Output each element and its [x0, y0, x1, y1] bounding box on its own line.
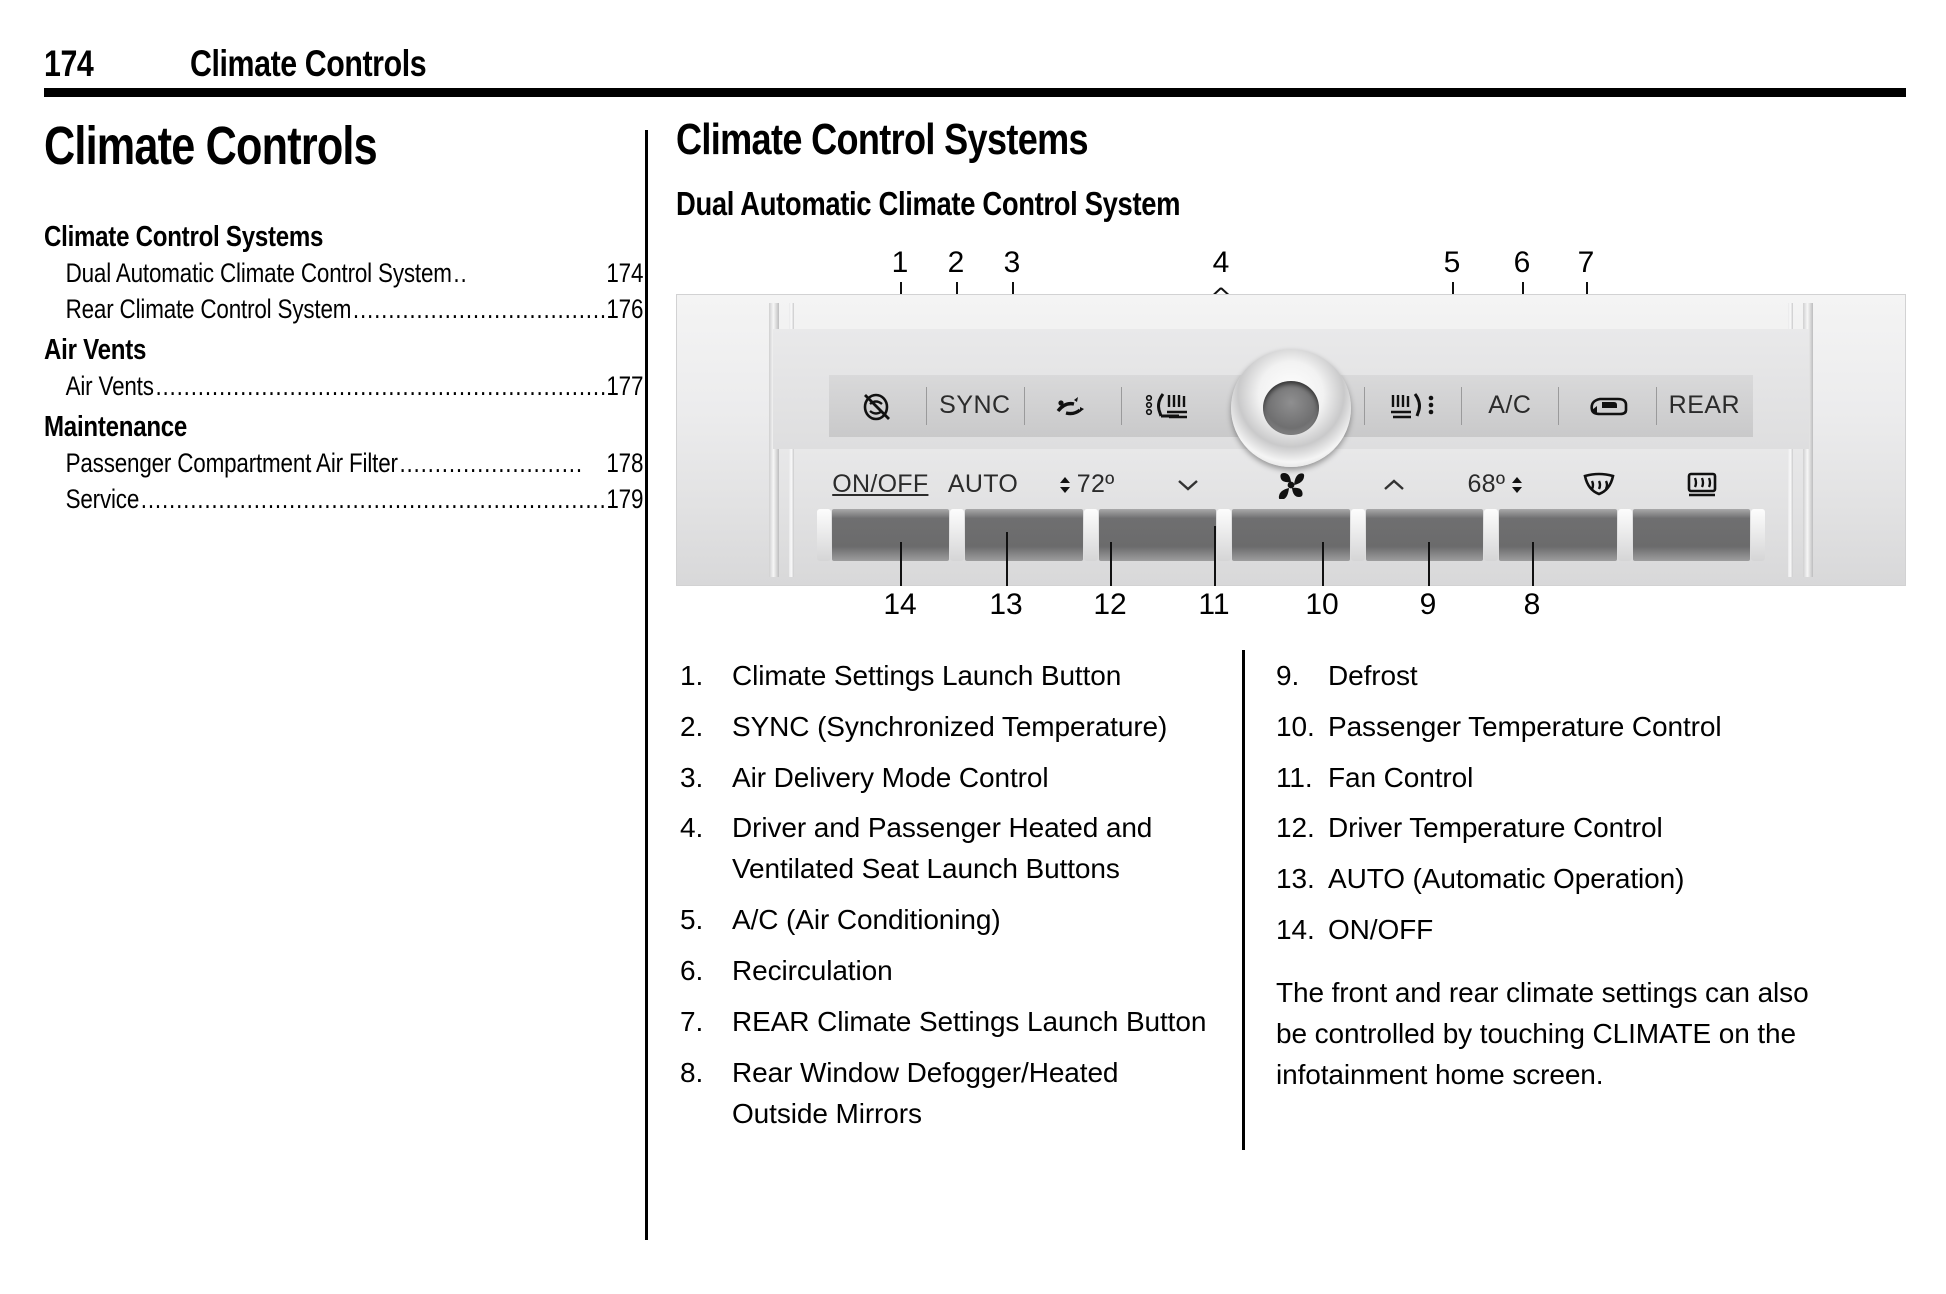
- chevron-up-icon: [1381, 477, 1407, 493]
- rear-climate-launch-button[interactable]: REAR: [1656, 375, 1753, 437]
- list-item: 9. Defrost: [1276, 656, 1846, 697]
- physical-key[interactable]: [965, 509, 1082, 561]
- legend-number: 8.: [680, 1053, 732, 1135]
- callout-3: 3: [1004, 248, 1021, 278]
- callout-5: 5: [1444, 248, 1461, 278]
- defrost-label: [1548, 470, 1651, 500]
- toc-group-heading: Air Vents: [44, 332, 542, 369]
- button-separator: [1351, 509, 1365, 561]
- climate-panel-figure: 1 2 3 4 5 6 7: [676, 248, 1906, 638]
- list-item: 12. Driver Temperature Control: [1276, 808, 1846, 849]
- list-item: 8. Rear Window Defogger/Heated Outside M…: [680, 1053, 1220, 1135]
- sync-label: SYNC: [939, 391, 1010, 420]
- climate-settings-icon: [861, 391, 895, 421]
- climate-label-row: ON/OFF AUTO 72º: [829, 463, 1753, 507]
- legend-divider-rule: [1242, 650, 1245, 1150]
- toc-entry[interactable]: Passenger Compartment Air Filter .......…: [44, 446, 643, 482]
- toc-group: Maintenance Passenger Compartment Air Fi…: [44, 409, 644, 518]
- toc-entry-label: Air Vents: [66, 369, 154, 405]
- list-item: 6. Recirculation: [680, 951, 1220, 992]
- rear-defogger-label: [1650, 470, 1753, 500]
- heated-ventilated-seat-icon-left: [1143, 390, 1195, 422]
- ac-label: A/C: [1488, 391, 1531, 420]
- column-divider-rule: [645, 130, 648, 1240]
- list-item: 10. Passenger Temperature Control: [1276, 707, 1846, 748]
- button-separator: [1484, 509, 1498, 561]
- toc-dot-leader: ........................................…: [353, 292, 605, 328]
- toc-group: Air Vents Air Vents ....................…: [44, 332, 644, 405]
- toc-dot-leader: ........................................…: [141, 482, 605, 518]
- rear-label: REAR: [1669, 391, 1740, 420]
- figure-callouts-bottom: 14 13 12 11 10 9 8: [676, 586, 1906, 638]
- toc-entry-page: 174: [606, 256, 643, 292]
- list-item: 2. SYNC (Synchronized Temperature): [680, 707, 1220, 748]
- leader-line-13: [1006, 532, 1008, 586]
- diamond-arrow-icon-right: [1509, 474, 1525, 496]
- heated-ventilated-seat-icon-right: [1387, 390, 1439, 422]
- toc-entry-page: 178: [606, 446, 643, 482]
- right-column: Climate Control Systems Dual Automatic C…: [676, 108, 1906, 656]
- button-separator: [1618, 509, 1632, 561]
- passenger-temperature-label: 68º: [1445, 470, 1548, 499]
- toc-group-heading: Climate Control Systems: [44, 219, 542, 256]
- legend-text: Rear Window Defogger/Heated Outside Mirr…: [732, 1053, 1220, 1135]
- button-separator: [1217, 509, 1231, 561]
- legend-text: REAR Climate Settings Launch Button: [732, 1002, 1220, 1043]
- physical-key[interactable]: [832, 509, 949, 561]
- callout-10: 10: [1305, 590, 1338, 620]
- toc-dot-leader: ..........................: [399, 446, 604, 482]
- passenger-heated-ventilated-seat-button[interactable]: [1364, 375, 1461, 437]
- button-separator: [817, 509, 831, 561]
- legend-text: Air Delivery Mode Control: [732, 758, 1220, 799]
- list-item: 14. ON/OFF: [1276, 910, 1846, 951]
- toc-entry-page: 177: [606, 369, 643, 405]
- legend-number: 6.: [680, 951, 732, 992]
- callout-14: 14: [883, 590, 916, 620]
- legend-text: Fan Control: [1328, 758, 1846, 799]
- callout-1: 1: [892, 248, 909, 278]
- legend-number: 10.: [1276, 707, 1328, 748]
- legend-number: 12.: [1276, 808, 1328, 849]
- leader-line-9: [1428, 542, 1430, 586]
- legend-text: AUTO (Automatic Operation): [1328, 859, 1846, 900]
- toc-dot-leader: ........................................…: [155, 369, 604, 405]
- climate-control-panel-image: SYNC: [676, 294, 1906, 586]
- legend-column-right: 9. Defrost 10. Passenger Temperature Con…: [1276, 656, 1846, 1096]
- physical-key[interactable]: [1099, 509, 1216, 561]
- air-delivery-mode-button[interactable]: [1024, 375, 1121, 437]
- legend-number: 2.: [680, 707, 732, 748]
- legend-number: 13.: [1276, 859, 1328, 900]
- list-item: 13. AUTO (Automatic Operation): [1276, 859, 1846, 900]
- legend-number: 1.: [680, 656, 732, 697]
- table-of-contents: Climate Control Systems Dual Automatic C…: [44, 219, 644, 518]
- toc-entry[interactable]: Service ................................…: [44, 482, 643, 518]
- leader-line-11: [1214, 526, 1216, 586]
- toc-entry[interactable]: Rear Climate Control System ............…: [44, 292, 643, 328]
- legend-text: Defrost: [1328, 656, 1846, 697]
- physical-key[interactable]: [1499, 509, 1616, 561]
- legend-number: 4.: [680, 808, 732, 890]
- on-off-label: ON/OFF: [829, 470, 932, 499]
- toc-entry-label: Service: [66, 482, 140, 518]
- toc-entry-page: 176: [606, 292, 643, 328]
- legend-number: 14.: [1276, 910, 1328, 951]
- legend-number: 5.: [680, 900, 732, 941]
- running-section-name: Climate Controls: [190, 45, 426, 82]
- climate-settings-launch-button[interactable]: [829, 375, 926, 437]
- chapter-title: Climate Controls: [44, 108, 524, 175]
- button-separator: [1084, 509, 1098, 561]
- legend-text: ON/OFF: [1328, 910, 1846, 951]
- legend-number: 7.: [680, 1002, 732, 1043]
- toc-entry[interactable]: Dual Automatic Climate Control System ..…: [44, 256, 643, 292]
- toc-entry[interactable]: Air Vents ..............................…: [44, 369, 643, 405]
- air-conditioning-button[interactable]: A/C: [1461, 375, 1558, 437]
- toc-dot-leader: ..: [453, 256, 604, 292]
- legend-text: Recirculation: [732, 951, 1220, 992]
- physical-button-row: [817, 509, 1765, 561]
- list-item: 5. A/C (Air Conditioning): [680, 900, 1220, 941]
- legend-text: Passenger Temperature Control: [1328, 707, 1846, 748]
- page-folio: 174: [44, 45, 93, 82]
- auto-label: AUTO: [932, 470, 1035, 499]
- physical-key[interactable]: [1366, 509, 1483, 561]
- sync-button[interactable]: SYNC: [926, 375, 1023, 437]
- callout-7: 7: [1578, 248, 1595, 278]
- defrost-icon: [1579, 470, 1619, 500]
- toc-entry-label: Passenger Compartment Air Filter: [66, 446, 398, 482]
- driver-heated-ventilated-seat-button[interactable]: [1121, 375, 1218, 437]
- fan-control-label: [1240, 471, 1343, 499]
- callout-2: 2: [948, 248, 965, 278]
- list-item: 1. Climate Settings Launch Button: [680, 656, 1220, 697]
- legend-text: Driver and Passenger Heated and Ventilat…: [732, 808, 1220, 890]
- leader-line-14: [900, 542, 902, 586]
- legend-number: 11.: [1276, 758, 1328, 799]
- running-head: 174 Climate Controls: [44, 36, 1904, 82]
- section-heading: Climate Control Systems: [676, 108, 1685, 164]
- leader-line-10: [1322, 542, 1324, 586]
- legend-text: Driver Temperature Control: [1328, 808, 1846, 849]
- callout-8: 8: [1524, 590, 1541, 620]
- recirculation-icon: [1584, 392, 1630, 420]
- toc-entry-page: 179: [606, 482, 643, 518]
- legend-text: SYNC (Synchronized Temperature): [732, 707, 1220, 748]
- legend-text: Climate Settings Launch Button: [732, 656, 1220, 697]
- infotainment-note: The front and rear climate settings can …: [1276, 973, 1846, 1096]
- physical-key[interactable]: [1232, 509, 1349, 561]
- callout-6: 6: [1514, 248, 1531, 278]
- legend-text: A/C (Air Conditioning): [732, 900, 1220, 941]
- driver-temp-value: 72º: [1077, 470, 1115, 499]
- diamond-arrow-icon-left: [1057, 474, 1073, 496]
- legend-column-left: 1. Climate Settings Launch Button 2. SYN…: [680, 656, 1220, 1145]
- driver-temperature-label: 72º: [1034, 470, 1137, 499]
- chevron-down-icon: [1175, 477, 1201, 493]
- list-item: 11. Fan Control: [1276, 758, 1846, 799]
- button-separator: [1751, 509, 1765, 561]
- left-column: Climate Controls Climate Control Systems…: [44, 108, 644, 522]
- callout-12: 12: [1093, 590, 1126, 620]
- leader-line-12: [1110, 542, 1112, 586]
- list-item: 4. Driver and Passenger Heated and Venti…: [680, 808, 1220, 890]
- toc-entry-label: Rear Climate Control System: [66, 292, 352, 328]
- callout-13: 13: [989, 590, 1022, 620]
- header-rule: [44, 88, 1906, 97]
- toc-entry-label: Dual Automatic Climate Control System: [66, 256, 452, 292]
- button-separator: [950, 509, 964, 561]
- toc-group-heading: Maintenance: [44, 409, 542, 446]
- list-item: 3. Air Delivery Mode Control: [680, 758, 1220, 799]
- leader-line-8: [1532, 542, 1534, 586]
- callout-4: 4: [1213, 248, 1230, 278]
- legend-number: 3.: [680, 758, 732, 799]
- fan-up-button[interactable]: [1342, 477, 1445, 493]
- legend-number: 9.: [1276, 656, 1328, 697]
- fan-down-button[interactable]: [1137, 477, 1240, 493]
- callout-11: 11: [1198, 590, 1229, 620]
- air-delivery-mode-icon: [1052, 391, 1092, 421]
- rear-defogger-icon: [1683, 470, 1721, 500]
- fan-icon: [1276, 471, 1306, 499]
- toc-group: Climate Control Systems Dual Automatic C…: [44, 219, 644, 328]
- manual-page: 174 Climate Controls Climate Controls Cl…: [0, 0, 1946, 1294]
- callout-9: 9: [1420, 590, 1437, 620]
- physical-key[interactable]: [1633, 509, 1750, 561]
- list-item: 7. REAR Climate Settings Launch Button: [680, 1002, 1220, 1043]
- sub-heading: Dual Automatic Climate Control System: [676, 186, 1697, 222]
- recirculation-button[interactable]: [1558, 375, 1655, 437]
- passenger-temp-value: 68º: [1467, 470, 1505, 499]
- temperature-knob[interactable]: [1231, 349, 1351, 467]
- figure-callouts-top: 1 2 3 4 5 6 7: [676, 248, 1906, 294]
